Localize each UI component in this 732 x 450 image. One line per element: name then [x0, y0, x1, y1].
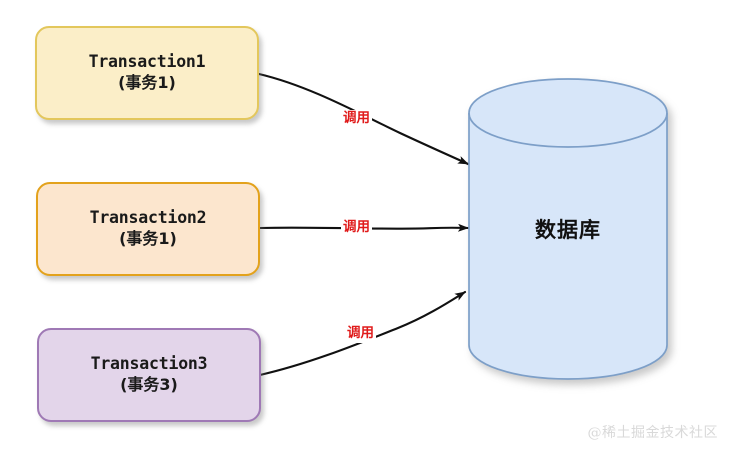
diagram-canvas: Transaction1 (事务1) Transaction2 (事务1) Tr…	[0, 0, 732, 450]
watermark: @稀土掘金技术社区	[588, 422, 719, 442]
node-transaction1-title: Transaction1	[89, 52, 206, 73]
database-cylinder-icon	[468, 78, 668, 380]
node-transaction2-title: Transaction2	[90, 208, 207, 229]
node-transaction2[interactable]: Transaction2 (事务1)	[36, 182, 260, 276]
node-transaction3-title: Transaction3	[91, 354, 208, 375]
node-transaction3-subtitle: (事务3)	[120, 375, 178, 396]
edge-label-call-3: 调用	[345, 325, 376, 343]
node-transaction2-subtitle: (事务1)	[119, 229, 177, 250]
edge-label-call-1: 调用	[341, 110, 372, 128]
edge-label-call-2: 调用	[341, 219, 372, 237]
node-transaction1[interactable]: Transaction1 (事务1)	[35, 26, 259, 120]
node-transaction3[interactable]: Transaction3 (事务3)	[37, 328, 261, 422]
node-transaction1-subtitle: (事务1)	[118, 73, 176, 94]
node-database[interactable]: 数据库	[468, 78, 668, 380]
